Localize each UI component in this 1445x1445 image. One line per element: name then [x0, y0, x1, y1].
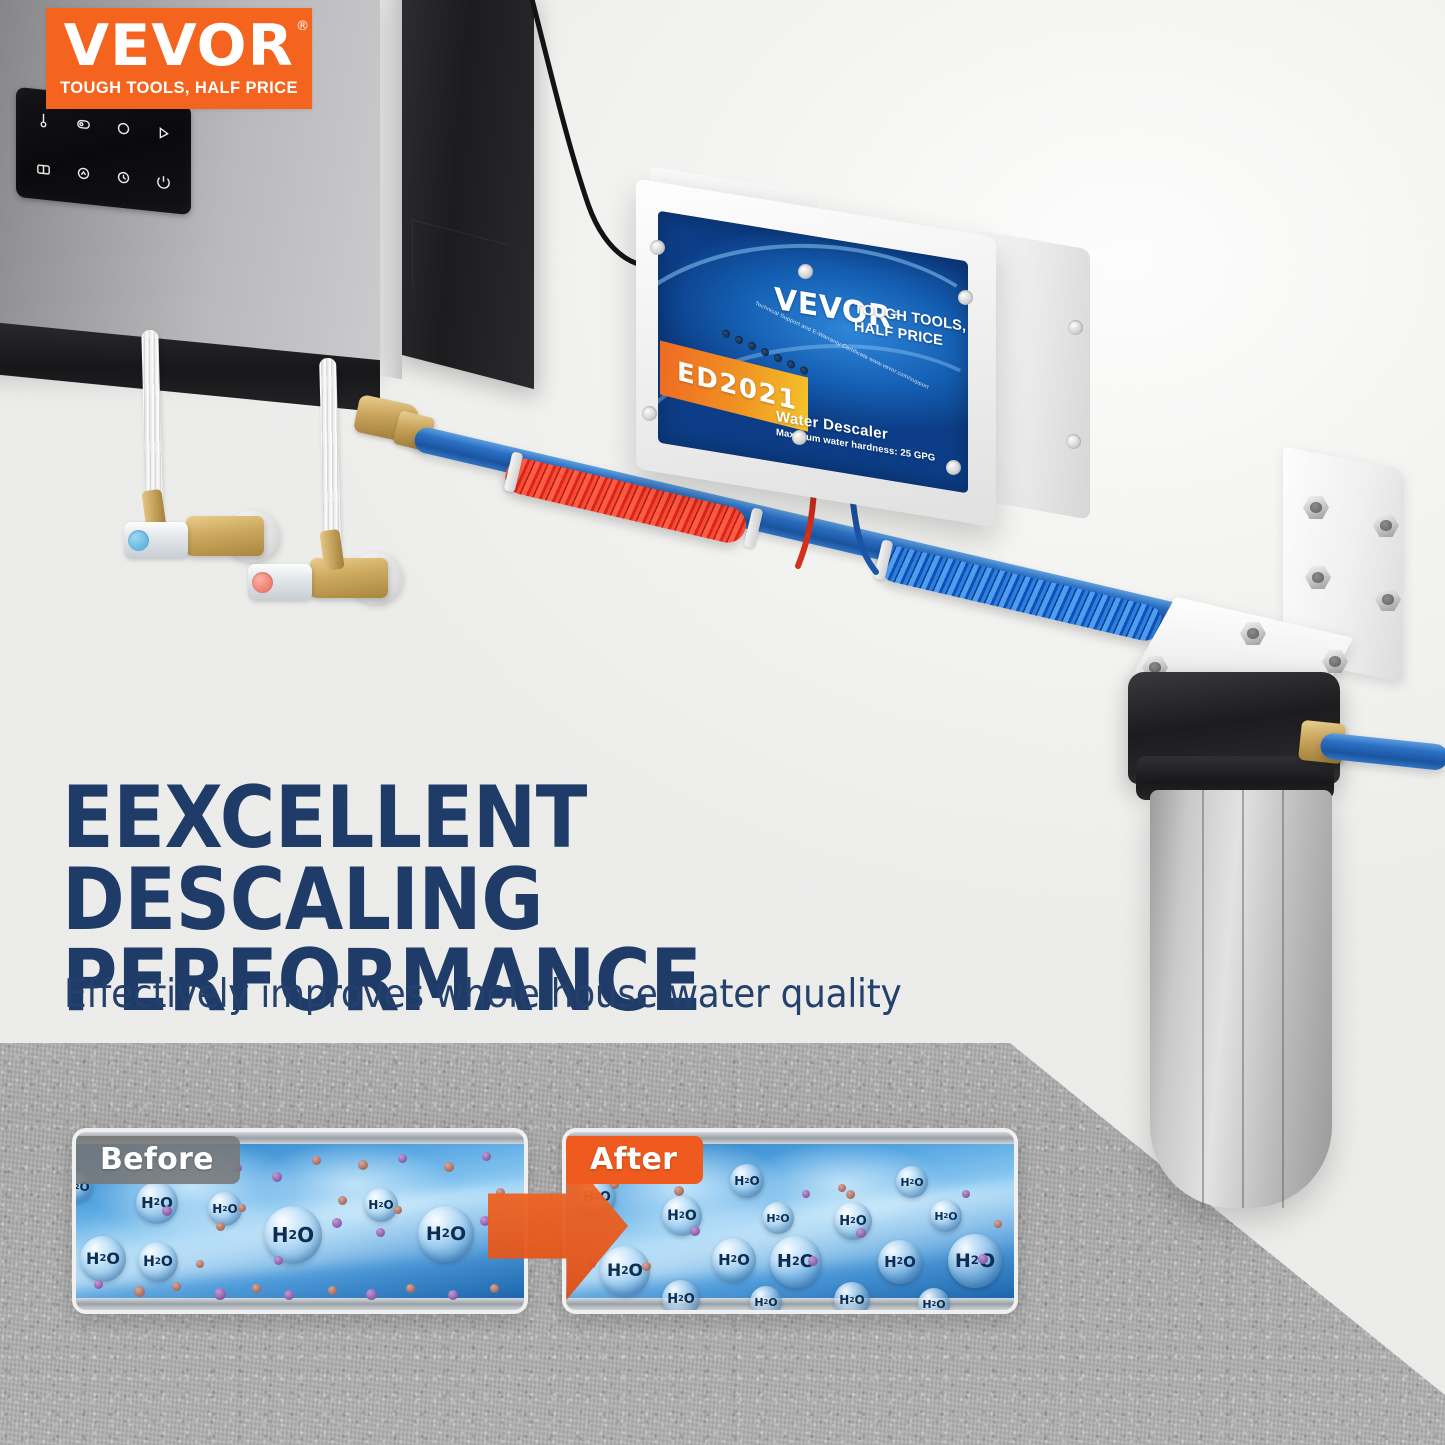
badge-after: After [566, 1136, 703, 1184]
descaler-screw-side-t [1068, 320, 1083, 335]
mineral-particle [312, 1156, 321, 1165]
valve-cap-hot [252, 572, 273, 593]
circle-icon[interactable] [104, 102, 144, 155]
mineral-particle [366, 1289, 377, 1300]
mineral-particle [398, 1154, 407, 1163]
descaler-screw-side-b [1066, 434, 1081, 449]
led-7 [800, 366, 808, 375]
h2o-molecule: H2O [878, 1240, 922, 1284]
led-4 [761, 347, 769, 356]
mineral-particle [272, 1172, 282, 1182]
h2o-molecule: H2O [948, 1234, 1002, 1288]
mineral-particle [690, 1226, 700, 1236]
mineral-particle [238, 1204, 246, 1212]
h2o-molecule: H2O [730, 1164, 764, 1198]
descaler-screw-tr [958, 290, 973, 305]
sump-seam-right [1282, 790, 1284, 1208]
descaler-side-body [980, 230, 1090, 519]
h2o-molecule: H2O [834, 1202, 872, 1240]
h2o-molecule: H2O [762, 1202, 794, 1234]
h2o-molecule: H2O [750, 1286, 782, 1314]
comparison-panel-before: H2O H2O H2O H2O H2O H2O H2O H2O [72, 1128, 528, 1314]
vevor-logo: VEVOR® TOUGH TOOLS, HALF PRICE [46, 8, 312, 109]
mineral-particle [674, 1186, 684, 1196]
sump-seam-left [1202, 790, 1204, 1208]
comparison-panel-after: H2O H2O H2O H2O H2O H2O H2O H2O H2O H2O … [562, 1128, 1018, 1314]
headline-line-1: EEXCELLENT DESCALING [62, 778, 836, 941]
h2o-molecule: H2O [364, 1188, 398, 1222]
product-marketing-image: VEVOR® Technical Support and E-Warranty … [0, 0, 1445, 1445]
sump-seam-mid [1242, 790, 1244, 1208]
mineral-particle [838, 1184, 846, 1192]
mineral-particle [962, 1190, 970, 1198]
descaler-screw-tm [798, 264, 813, 279]
filter-housing-sump [1150, 790, 1332, 1208]
h2o-molecule: H2O [918, 1288, 950, 1314]
led-2 [735, 335, 743, 344]
timer-icon[interactable] [104, 151, 144, 204]
water-descaler-unit: VEVOR® Technical Support and E-Warranty … [628, 178, 1098, 538]
mineral-particle [358, 1160, 368, 1170]
led-3 [748, 341, 756, 350]
h2o-molecule: H2O [208, 1192, 242, 1226]
mineral-particle [162, 1206, 172, 1216]
up-icon[interactable] [64, 147, 104, 200]
mineral-particle [978, 1254, 988, 1264]
mineral-particle [994, 1220, 1002, 1228]
page-subtitle: Effectively improves whole house water q… [64, 972, 901, 1017]
mineral-particle [802, 1190, 810, 1198]
descaler-screw-br [946, 460, 961, 475]
mineral-particle [214, 1288, 226, 1300]
h2o-molecule: H2O [600, 1246, 650, 1296]
mineral-particle [196, 1260, 204, 1268]
descaler-screw-tl [650, 240, 665, 255]
led-5 [774, 354, 782, 363]
mineral-particle [482, 1152, 491, 1161]
logo-wordmark: VEVOR® [64, 19, 294, 73]
mineral-particle [216, 1222, 225, 1231]
mineral-particle [376, 1228, 385, 1237]
h2o-molecule: H2O [264, 1206, 322, 1264]
mineral-particle [94, 1280, 103, 1289]
valve-cap-cold [128, 530, 149, 551]
valve-body-cold [186, 516, 264, 556]
mineral-particle [490, 1284, 499, 1293]
h2o-molecule: H2O [418, 1206, 474, 1262]
mineral-particle [172, 1282, 181, 1291]
mineral-particle [808, 1256, 818, 1266]
logo-registered-mark: ® [296, 21, 310, 33]
mineral-particle [328, 1286, 337, 1295]
play-icon[interactable] [143, 106, 183, 159]
mineral-particle [332, 1218, 342, 1228]
power-icon[interactable] [143, 155, 183, 208]
mineral-particle [642, 1262, 651, 1271]
mineral-particle [406, 1284, 415, 1293]
h2o-molecule: H2O [834, 1282, 870, 1314]
h2o-molecule: H2O [662, 1280, 700, 1314]
h2o-molecule: H2O [930, 1200, 962, 1232]
descaler-screw-bm [792, 430, 807, 445]
mineral-particle [274, 1256, 283, 1265]
h2o-molecule: H2O [896, 1166, 928, 1198]
pipe-rail-bottom-before [76, 1298, 524, 1310]
logo-tagline: TOUGH TOOLS, HALF PRICE [60, 79, 298, 98]
mineral-particle [252, 1284, 261, 1293]
screen-icon[interactable] [24, 143, 64, 196]
mineral-particle [444, 1162, 454, 1172]
mineral-particle [856, 1228, 866, 1238]
mineral-particle [338, 1196, 347, 1205]
led-6 [787, 360, 795, 369]
mineral-particle [448, 1290, 458, 1300]
descaler-screw-bl [642, 406, 657, 421]
valve-body-hot [310, 558, 388, 598]
mineral-particle [846, 1190, 855, 1199]
badge-before: Before [76, 1136, 240, 1184]
h2o-molecule: H2O [138, 1242, 178, 1282]
h2o-molecule: H2O [80, 1236, 126, 1282]
led-1 [722, 329, 730, 338]
h2o-molecule: H2O [712, 1238, 756, 1282]
mineral-particle [284, 1290, 294, 1300]
h2o-molecule: H2O [136, 1182, 178, 1224]
logo-word-text: VEVOR [64, 13, 294, 79]
mineral-particle [394, 1206, 402, 1214]
mineral-particle [134, 1286, 145, 1297]
